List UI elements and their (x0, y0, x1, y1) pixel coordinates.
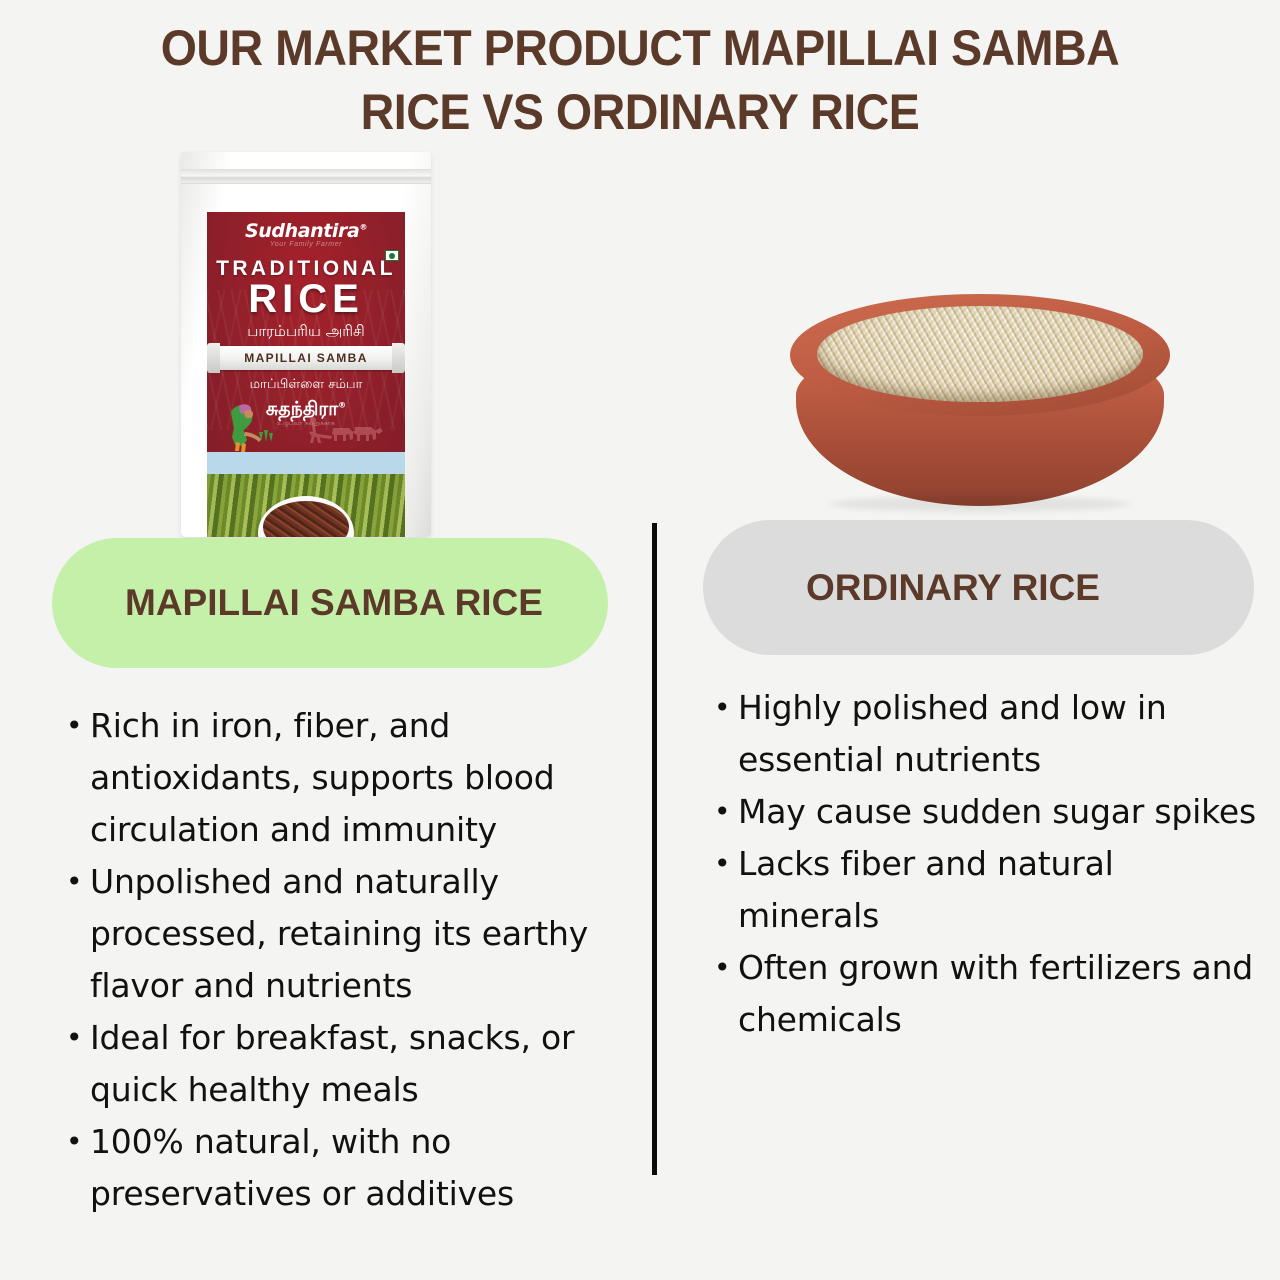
page-title-line-2: RICE VS ORDINARY RICE (101, 80, 1180, 144)
left-category-pill: MAPILLAI SAMBA RICE (52, 538, 608, 668)
list-item: Lacks fiber and natural minerals (696, 838, 1256, 942)
tamil-registered-mark-icon: ® (338, 401, 346, 410)
list-item: Rich in iron, fiber, and antioxidants, s… (48, 700, 628, 856)
right-category-label: ORDINARY RICE (703, 564, 1100, 612)
ordinary-rice-drawbacks-list: Highly polished and low in essential nut… (696, 682, 1256, 1046)
list-item: 100% natural, with no preservatives or a… (48, 1116, 628, 1220)
package-variety-text: MAPILLAI SAMBA (218, 346, 394, 370)
mapillai-samba-benefits-list: Rich in iron, fiber, and antioxidants, s… (48, 700, 628, 1220)
package-brand-name: Sudhantira® (207, 220, 405, 242)
list-item: Unpolished and naturally processed, reta… (48, 856, 628, 1012)
package-brand-text: Sudhantira (245, 220, 359, 242)
mapillai-samba-rice-package-image: Sudhantira® Your Family Farmer TRADITION… (181, 152, 431, 537)
list-item: Often grown with fertilizers and chemica… (696, 942, 1256, 1046)
package-ziplock-seal (181, 169, 431, 184)
bowl-drop-shadow (830, 496, 1130, 512)
page-title-line-1: OUR MARKET PRODUCT MAPILLAI SAMBA (101, 16, 1180, 80)
list-item: Ideal for breakfast, snacks, or quick he… (48, 1012, 628, 1116)
list-item: Highly polished and low in essential nut… (696, 682, 1256, 786)
package-variety-ribbon: MAPILLAI SAMBA (218, 346, 394, 370)
package-heading-rice: RICE (207, 278, 405, 320)
left-category-label: MAPILLAI SAMBA RICE (117, 576, 543, 630)
package-tamil-variety: மாப்பிள்ளை சம்பா (207, 377, 405, 393)
package-rice-bowl-photo (258, 496, 354, 537)
ox-plough-illustration-icon (303, 414, 395, 448)
column-divider (652, 523, 657, 1175)
farmer-planting-illustration-icon (225, 402, 281, 454)
package-brand-tagline: Your Family Farmer (207, 241, 405, 248)
ordinary-rice-clay-bowl-image (790, 294, 1170, 508)
package-rice-grains (263, 501, 349, 537)
paddy-water-band (207, 452, 405, 474)
clay-bowl-rim (790, 294, 1170, 416)
registered-mark-icon: ® (359, 223, 367, 232)
package-tamil-traditional-rice: பாரம்பரிய அரிசி (207, 322, 405, 342)
package-front-label: Sudhantira® Your Family Farmer TRADITION… (207, 212, 405, 474)
right-category-pill: ORDINARY RICE (703, 520, 1254, 655)
polished-rice-grains (817, 306, 1143, 402)
page-title: OUR MARKET PRODUCT MAPILLAI SAMBA RICE V… (101, 16, 1180, 144)
package-paddy-field-photo (207, 474, 405, 537)
list-item: May cause sudden sugar spikes (696, 786, 1256, 838)
